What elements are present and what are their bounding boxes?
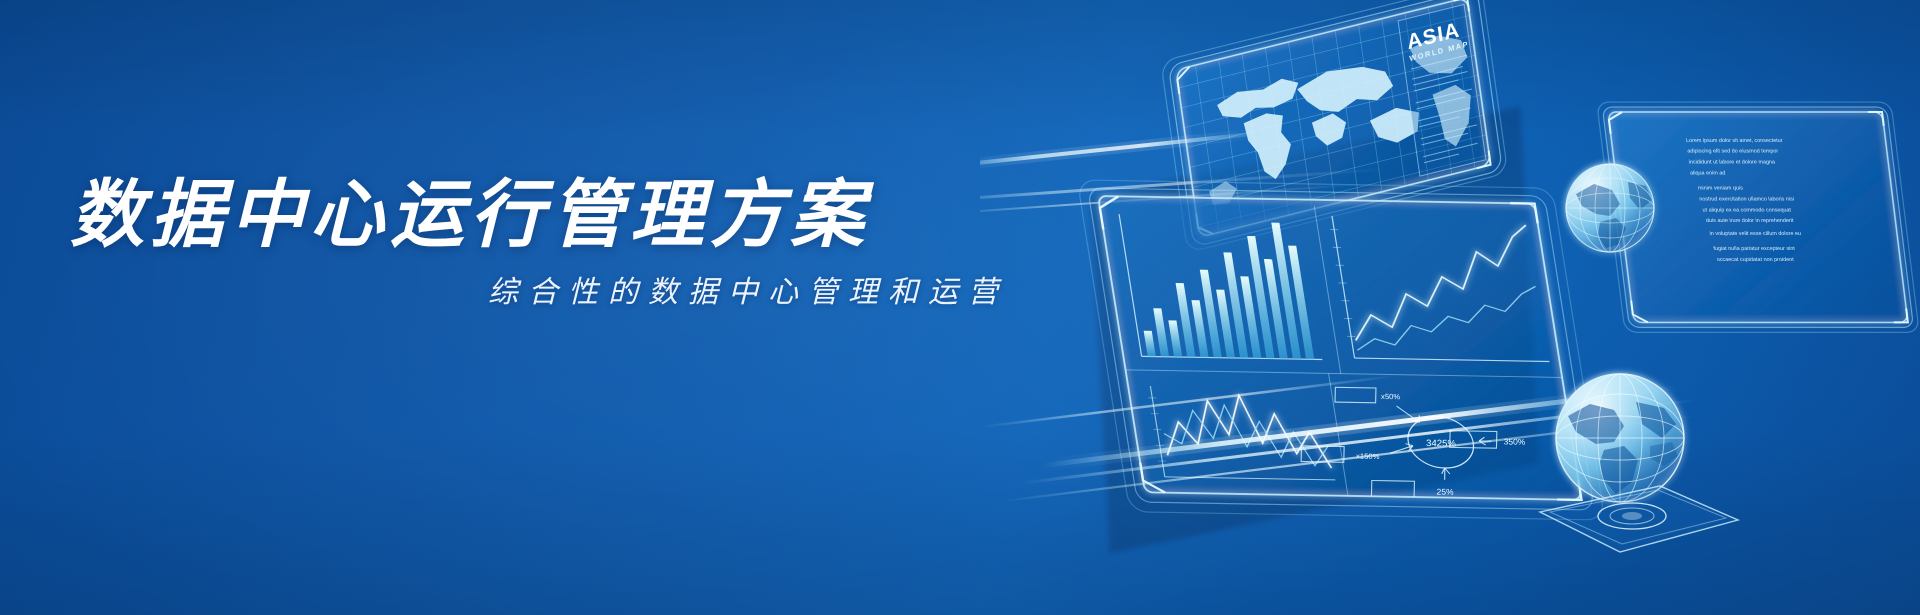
hud-illustration: ASIA WORLD MAP [980,0,1920,615]
text-panel-line: nostrud exercitation ullamco laboris nis… [1699,196,1794,202]
text-panel-line: aliqua enim ad [1690,171,1726,177]
hero-banner: 数据中心运行管理方案 综合性的数据中心管理和运营 [0,0,1920,615]
text-panel-line: Lorem ipsum dolor sit amet, consectetur [1686,138,1783,144]
hud-globe-small [1566,164,1654,252]
hud-chart-panel: 3425% x50% 350% x150% 25% [1077,180,1605,520]
text-panel-line: duis aute irure dolor in reprehenderit [1706,218,1795,224]
page-subtitle: 综合性的数据中心管理和运营 [70,278,1030,308]
hero-text-block: 数据中心运行管理方案 综合性的数据中心管理和运营 [70,178,1030,308]
text-panel-line: ut aliquip ex ea commodo consequat [1702,207,1792,213]
text-panel-line: occaecat cupidatat non proident [1716,257,1794,263]
text-panel-line: in voluptate velit esse cillum dolore eu [1709,231,1801,237]
callout-x50-label: x50% [1379,392,1401,401]
text-panel-line: minim veniam quis [1698,185,1744,191]
page-title: 数据中心运行管理方案 [70,178,1030,252]
hud-globe-large [1540,374,1738,552]
callout-25-label: 25% [1435,487,1455,497]
text-panel-line: fugiat nulla pariatur excepteur sint [1713,246,1796,252]
text-panel-line: incididunt ut labore et dolore magna [1688,160,1775,166]
text-panel-line: adipiscing elit sed do eiusmod tempor [1687,149,1779,155]
